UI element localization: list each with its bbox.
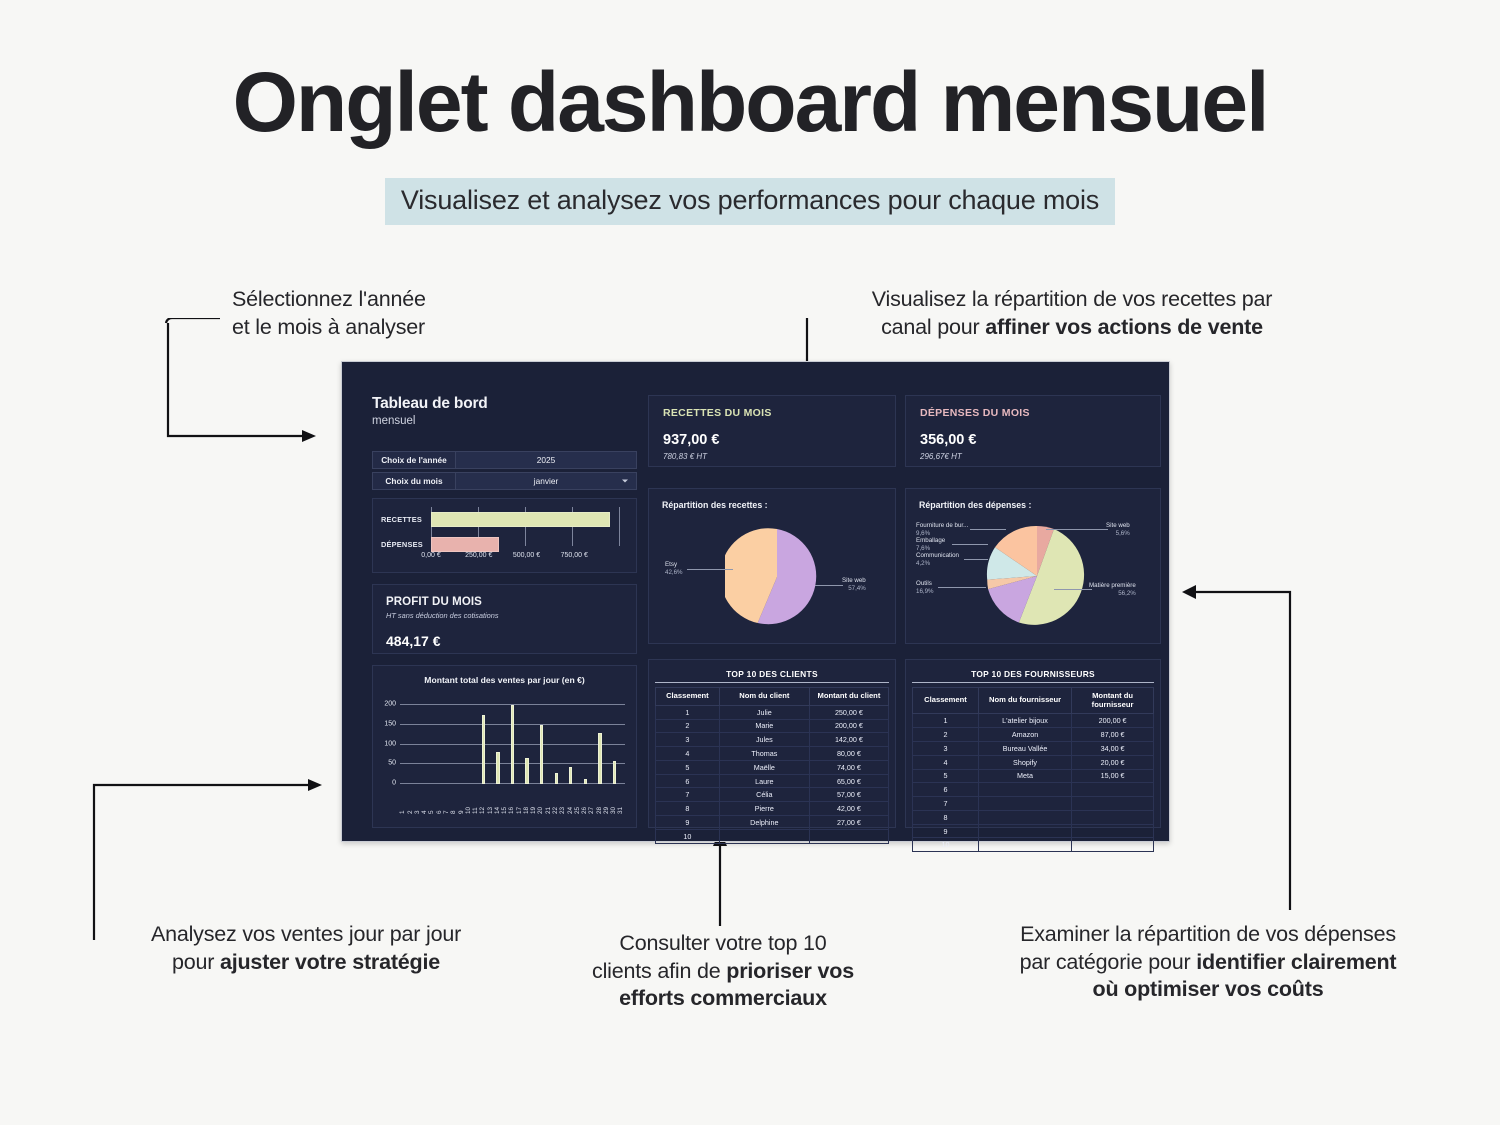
cell-amount: 65,00 € — [809, 774, 888, 788]
bar-slot — [618, 699, 625, 784]
revenue-pie-title: Répartition des recettes : — [662, 500, 768, 510]
annotation-line: Analysez vos ventes jour par jour — [118, 921, 494, 949]
cell-rank: 9 — [913, 824, 979, 838]
profit-note: HT sans déduction des cotisations — [386, 611, 623, 620]
annotation-text: clients afin de — [592, 959, 726, 983]
pie-label-emballage: Emballage 7,6% — [916, 537, 945, 553]
x-tick: 14 — [495, 788, 501, 814]
annotation-text: pour — [172, 950, 220, 974]
table-row: 2Marie200,00 € — [656, 719, 889, 733]
pie-label-text: Site web — [842, 577, 866, 585]
y-tick: 100 — [384, 740, 396, 747]
revenue-pie-chart — [725, 525, 829, 629]
month-selector-row[interactable]: Choix du mois janvier — [372, 472, 637, 490]
x-tick: 24 — [568, 788, 574, 814]
pie-label-value: 16,9% — [916, 588, 934, 596]
bar-slot — [415, 699, 422, 784]
column-header-rank: Classement — [656, 688, 720, 706]
pie-label-value: 56,2% — [1089, 590, 1136, 598]
cell-name: L'atelier bijoux — [978, 714, 1071, 728]
daily-sales-bar-chart: Montant total des ventes par jour (en €)… — [372, 665, 637, 828]
dashboard-title: Tableau de bord — [372, 395, 488, 413]
table-row: 5Meta15,00 € — [913, 769, 1154, 783]
cell-name: Meta — [978, 769, 1071, 783]
annotation-emphasis: ajuster votre stratégie — [220, 950, 440, 974]
leader-line-expense-split — [1178, 552, 1308, 922]
dashboard-brand: Tableau de bord mensuel — [372, 395, 488, 427]
x-tick: 0,00 € — [421, 552, 440, 559]
cell-name: Pierre — [719, 802, 809, 816]
annotation-line: efforts commerciaux — [566, 985, 880, 1013]
cell-amount: 57,00 € — [809, 788, 888, 802]
year-selector-row[interactable]: Choix de l'année 2025 — [372, 451, 637, 469]
bar-chart-plot: RECETTES DÉPENSES 0,00 € 250,00 € — [381, 507, 628, 564]
x-tick-slot: 1 — [400, 788, 407, 814]
top-suppliers-table-panel: TOP 10 DES FOURNISSEURS Classement Nom d… — [905, 659, 1161, 828]
pie-label-value: 57,4% — [842, 585, 866, 593]
annotation-revenue-split: Visualisez la répartition de vos recette… — [826, 286, 1318, 341]
bar-slot — [567, 699, 574, 784]
x-tick: 18 — [524, 788, 530, 814]
pie-label-value: 4,2% — [916, 560, 959, 568]
pie-label-siteweb-dep: Site web 5,6% — [1106, 522, 1130, 538]
pie-label-communication: Communication 4,2% — [916, 552, 959, 568]
cell-name: Maëlle — [719, 760, 809, 774]
cell-name — [978, 838, 1071, 852]
bar-slot — [560, 699, 567, 784]
cell-amount: 142,00 € — [809, 733, 888, 747]
bar — [555, 773, 558, 784]
cell-rank: 5 — [913, 769, 979, 783]
cell-name: Delphine — [719, 815, 809, 829]
top-clients-table-panel: TOP 10 DES CLIENTS Classement Nom du cli… — [648, 659, 896, 828]
y-tick: 200 — [384, 701, 396, 708]
bar-fill-recettes — [431, 512, 610, 527]
cell-amount: 80,00 € — [809, 747, 888, 761]
top-suppliers-table: Classement Nom du fournisseur Montant du… — [912, 687, 1154, 852]
x-tick-slot: 5 — [429, 788, 436, 814]
x-tick: 17 — [517, 788, 523, 814]
chevron-down-icon[interactable] — [622, 480, 628, 483]
bar-slot — [444, 699, 451, 784]
cell-rank: 2 — [656, 719, 720, 733]
table-row: 6 — [913, 783, 1154, 797]
column-header-rank: Classement — [913, 688, 979, 714]
annotation-line: pour ajuster votre stratégie — [118, 949, 494, 977]
table-row: 8 — [913, 810, 1154, 824]
x-tick: 29 — [604, 788, 610, 814]
pie-leader-line — [1054, 589, 1092, 590]
cell-amount: 74,00 € — [809, 760, 888, 774]
pie-leader-line — [964, 559, 988, 560]
y-tick: 150 — [384, 720, 396, 727]
cell-amount — [809, 829, 888, 843]
cell-amount: 200,00 € — [1072, 714, 1154, 728]
x-tick-slot: 20 — [538, 788, 545, 814]
daily-sales-bars — [400, 699, 625, 784]
page-subtitle-wrap: Visualisez et analysez vos performances … — [0, 178, 1500, 225]
table-row: 8Pierre42,00 € — [656, 802, 889, 816]
bar-slot — [538, 699, 545, 784]
bar-track — [431, 510, 622, 529]
year-selector-text: 2025 — [537, 455, 555, 465]
bar-fill-depenses — [431, 537, 499, 552]
table-row: 9 — [913, 824, 1154, 838]
expense-pie-panel: Répartition des dépenses : Fourniture de… — [905, 488, 1161, 644]
annotation-text: canal pour — [881, 315, 985, 339]
x-tick: 20 — [538, 788, 544, 814]
annotation-line: Visualisez la répartition de vos recette… — [826, 286, 1318, 314]
cell-name — [978, 824, 1071, 838]
cell-amount: 34,00 € — [1072, 742, 1154, 756]
bar-slot — [611, 699, 618, 784]
pie-leader-line — [815, 585, 843, 586]
table-row: 3Jules142,00 € — [656, 733, 889, 747]
pie-label-text: Fourniture de bur... — [916, 522, 968, 530]
x-tick: 16 — [509, 788, 515, 814]
top-clients-title: TOP 10 DES CLIENTS — [655, 665, 889, 683]
x-tick: 23 — [560, 788, 566, 814]
bar-slot — [582, 699, 589, 784]
x-tick: 500,00 € — [513, 552, 540, 559]
dashboard-subtitle: mensuel — [372, 415, 488, 427]
kpi-value-depenses: 356,00 € — [920, 432, 1146, 448]
x-tick-slot: 13 — [487, 788, 494, 814]
x-tick-slot: 9 — [458, 788, 465, 814]
cell-name — [719, 829, 809, 843]
cell-name: Julie — [719, 705, 809, 719]
bar-slot — [422, 699, 429, 784]
cell-rank: 5 — [656, 760, 720, 774]
bar — [540, 725, 543, 784]
x-tick-slot: 8 — [451, 788, 458, 814]
annotation-top-clients: Consulter votre top 10 clients afin de p… — [566, 930, 880, 1013]
cell-name: Bureau Vallée — [978, 742, 1071, 756]
pie-label-text: Site web — [1106, 522, 1130, 530]
kpi-sub-recettes: 780,83 € HT — [663, 452, 881, 461]
x-tick: 2 — [408, 788, 414, 814]
bar-slot — [596, 699, 603, 784]
cell-name — [978, 810, 1071, 824]
cell-rank: 10 — [913, 838, 979, 852]
bar-slot — [436, 699, 443, 784]
annotation-line: Sélectionnez l'année — [232, 286, 426, 314]
bar-slot — [516, 699, 523, 784]
bar-slot — [400, 699, 407, 784]
annotation-emphasis: efforts commerciaux — [619, 986, 827, 1010]
bar-chart-x-axis: 0,00 € 250,00 € 500,00 € 750,00 € — [431, 552, 622, 564]
cell-rank: 3 — [913, 742, 979, 756]
cell-name: Amazon — [978, 728, 1071, 742]
cell-amount: 87,00 € — [1072, 728, 1154, 742]
cell-amount — [1072, 797, 1154, 811]
bar-slot — [509, 699, 516, 784]
annotation-line: où optimiser vos coûts — [975, 976, 1441, 1004]
top-clients-table: Classement Nom du client Montant du clie… — [655, 687, 889, 844]
pie-leader-line — [938, 587, 986, 588]
table-row: 7 — [913, 797, 1154, 811]
bar — [482, 715, 485, 784]
cell-rank: 3 — [656, 733, 720, 747]
bar — [584, 779, 587, 784]
x-tick-slot: 12 — [480, 788, 487, 814]
pie-label-text: Outils — [916, 580, 934, 588]
top-clients-table-body: 1Julie250,00 €2Marie200,00 €3Jules142,00… — [656, 705, 889, 843]
bar — [496, 752, 499, 784]
pie-label-text: Communication — [916, 552, 959, 560]
expense-pie-title: Répartition des dépenses : — [919, 500, 1031, 510]
column-header-amount: Montant du fournisseur — [1072, 688, 1154, 714]
annotation-emphasis: identifier clairement — [1196, 950, 1396, 974]
profit-card: PROFIT DU MOIS HT sans déduction des cot… — [372, 584, 637, 654]
bar-label-recettes: RECETTES — [381, 510, 429, 529]
bar-slot — [502, 699, 509, 784]
cell-rank: 6 — [913, 783, 979, 797]
cell-amount: 200,00 € — [809, 719, 888, 733]
annotation-emphasis: prioriser vos — [726, 959, 854, 983]
x-tick: 31 — [618, 788, 624, 814]
column-header-amount: Montant du client — [809, 688, 888, 706]
cell-amount — [1072, 810, 1154, 824]
pie-label-matiere: Matière première 56,2% — [1089, 582, 1136, 598]
dashboard-canvas: Tableau de bord mensuel Choix de l'année… — [351, 371, 1160, 832]
x-tick-slot: 23 — [560, 788, 567, 814]
y-tick: 0 — [392, 780, 396, 787]
x-tick-slot: 28 — [596, 788, 603, 814]
cell-rank: 6 — [656, 774, 720, 788]
x-tick: 6 — [437, 788, 443, 814]
table-header-row: Classement Nom du fournisseur Montant du… — [913, 688, 1154, 714]
bar-row-recettes: RECETTES — [381, 510, 628, 529]
x-tick: 28 — [597, 788, 603, 814]
profit-title: PROFIT DU MOIS — [386, 596, 623, 608]
annotation-text: par catégorie pour — [1020, 950, 1197, 974]
kpi-card-recettes: RECETTES DU MOIS 937,00 € 780,83 € HT — [648, 395, 896, 467]
cell-name: Célia — [719, 788, 809, 802]
bar — [525, 758, 528, 784]
cell-rank: 4 — [656, 747, 720, 761]
table-row: 10 — [656, 829, 889, 843]
leader-line-daily-sales — [86, 765, 336, 945]
top-suppliers-title: TOP 10 DES FOURNISSEURS — [912, 665, 1154, 683]
cell-rank: 9 — [656, 815, 720, 829]
annotation-emphasis: où optimiser vos coûts — [1093, 977, 1324, 1001]
cell-amount: 42,00 € — [809, 802, 888, 816]
cell-rank: 2 — [913, 728, 979, 742]
table-row: 4Shopify20,00 € — [913, 755, 1154, 769]
cell-name: Laure — [719, 774, 809, 788]
annotation-line: Examiner la répartition de vos dépenses — [975, 921, 1441, 949]
table-header-row: Classement Nom du client Montant du clie… — [656, 688, 889, 706]
page-title: Onglet dashboard mensuel — [0, 60, 1500, 144]
cell-name: Marie — [719, 719, 809, 733]
bar — [569, 767, 572, 784]
annotation-line: par catégorie pour identifier clairement — [975, 949, 1441, 977]
bar-slot — [603, 699, 610, 784]
cell-rank: 1 — [656, 705, 720, 719]
cell-amount: 20,00 € — [1072, 755, 1154, 769]
cell-rank: 7 — [656, 788, 720, 802]
bar-slot — [494, 699, 501, 784]
pie-label-text: Etsy — [665, 561, 683, 569]
x-tick: 10 — [466, 788, 472, 814]
bar-slot — [545, 699, 552, 784]
page-subtitle: Visualisez et analysez vos performances … — [385, 178, 1115, 225]
pie-leader-line — [687, 569, 733, 570]
bar-slot — [487, 699, 494, 784]
kpi-card-depenses: DÉPENSES DU MOIS 356,00 € 296,67€ HT — [905, 395, 1161, 467]
cell-amount: 27,00 € — [809, 815, 888, 829]
cell-name: Jules — [719, 733, 809, 747]
annotation-expense-split: Examiner la répartition de vos dépenses … — [975, 921, 1441, 1004]
x-tick: 21 — [546, 788, 552, 814]
x-tick: 25 — [575, 788, 581, 814]
x-tick: 9 — [459, 788, 465, 814]
cell-amount: 250,00 € — [809, 705, 888, 719]
year-selector-value[interactable]: 2025 — [456, 451, 637, 469]
table-row: 1Julie250,00 € — [656, 705, 889, 719]
month-selector-text: janvier — [534, 476, 558, 486]
filter-selectors: Choix de l'année 2025 Choix du mois janv… — [372, 451, 637, 493]
annotation-line: Consulter votre top 10 — [566, 930, 880, 958]
cell-name: Thomas — [719, 747, 809, 761]
table-row: 4Thomas80,00 € — [656, 747, 889, 761]
pie-label-value: 5,6% — [1106, 530, 1130, 538]
cell-amount — [1072, 783, 1154, 797]
table-row: 1L'atelier bijoux200,00 € — [913, 714, 1154, 728]
table-row: 7Célia57,00 € — [656, 788, 889, 802]
cell-rank: 7 — [913, 797, 979, 811]
x-tick: 3 — [415, 788, 421, 814]
bar — [511, 705, 514, 784]
bar-slot — [465, 699, 472, 784]
cell-rank: 4 — [913, 755, 979, 769]
pie-leader-line — [1046, 529, 1108, 530]
x-tick-slot: 31 — [618, 788, 625, 814]
month-selector-label: Choix du mois — [372, 472, 456, 490]
pie-leader-line — [970, 529, 1006, 530]
bar-slot — [473, 699, 480, 784]
pie-label-fourniture: Fourniture de bur... 9,6% — [916, 522, 968, 538]
bar-slot — [451, 699, 458, 784]
annotation-line: clients afin de prioriser vos — [566, 958, 880, 986]
dashboard-screenshot: Tableau de bord mensuel Choix de l'année… — [341, 361, 1170, 842]
bar-slot — [589, 699, 596, 784]
cell-rank: 1 — [913, 714, 979, 728]
bar-slot — [524, 699, 531, 784]
revenue-pie-panel: Répartition des recettes : Etsy 42,6% Si… — [648, 488, 896, 644]
bar-slot — [458, 699, 465, 784]
cell-rank: 8 — [656, 802, 720, 816]
bar-slot — [429, 699, 436, 784]
y-tick: 50 — [388, 760, 396, 767]
daily-sales-plot: 0 50 100 150 200 — [400, 699, 625, 784]
table-row: 2Amazon87,00 € — [913, 728, 1154, 742]
x-tick: 1 — [400, 788, 406, 814]
infographic-page: Onglet dashboard mensuel Visualisez et a… — [0, 0, 1500, 1125]
revenue-expense-bar-chart: RECETTES DÉPENSES 0,00 € 250,00 € — [372, 498, 637, 573]
bar-slot — [480, 699, 487, 784]
annotation-line: canal pour affiner vos actions de vente — [826, 314, 1318, 342]
pie-label-etsy: Etsy 42,6% — [665, 561, 683, 577]
pie-label-value: 42,6% — [665, 569, 683, 577]
kpi-label-recettes: RECETTES DU MOIS — [663, 407, 881, 419]
table-row: 6Laure65,00 € — [656, 774, 889, 788]
table-row: 3Bureau Vallée34,00 € — [913, 742, 1154, 756]
kpi-value-recettes: 937,00 € — [663, 432, 881, 448]
x-tick: 5 — [429, 788, 435, 814]
kpi-label-depenses: DÉPENSES DU MOIS — [920, 407, 1146, 419]
pie-label-outils: Outils 16,9% — [916, 580, 934, 596]
cell-name: Shopify — [978, 755, 1071, 769]
pie-label-text: Matière première — [1089, 582, 1136, 590]
x-tick-slot: 24 — [567, 788, 574, 814]
cell-amount: 15,00 € — [1072, 769, 1154, 783]
pie-label-text: Emballage — [916, 537, 945, 545]
annotation-daily-sales: Analysez vos ventes jour par jour pour a… — [118, 921, 494, 976]
x-tick-slot: 16 — [509, 788, 516, 814]
x-tick: 8 — [451, 788, 457, 814]
daily-sales-x-axis: 1234567891011121314151617181920212223242… — [400, 788, 625, 814]
bar — [598, 733, 601, 784]
kpi-sub-depenses: 296,67€ HT — [920, 452, 1146, 461]
table-row: 5Maëlle74,00 € — [656, 760, 889, 774]
annotation-line: et le mois à analyser — [232, 314, 426, 342]
month-selector-value[interactable]: janvier — [456, 472, 637, 490]
cell-rank: 10 — [656, 829, 720, 843]
x-tick: 250,00 € — [465, 552, 492, 559]
pie-leader-line — [952, 544, 988, 545]
top-suppliers-table-body: 1L'atelier bijoux200,00 €2Amazon87,00 €3… — [913, 714, 1154, 852]
cell-amount — [1072, 838, 1154, 852]
daily-sales-chart-title: Montant total des ventes par jour (en €) — [373, 675, 636, 685]
table-row: 9Delphine27,00 € — [656, 815, 889, 829]
bar — [613, 761, 616, 784]
x-tick: 750,00 € — [561, 552, 588, 559]
bar-slot — [531, 699, 538, 784]
annotation-emphasis: affiner vos actions de vente — [985, 315, 1263, 339]
cell-name — [978, 797, 1071, 811]
x-tick: 12 — [480, 788, 486, 814]
cell-amount — [1072, 824, 1154, 838]
cell-name — [978, 783, 1071, 797]
x-tick: 27 — [589, 788, 595, 814]
year-selector-label: Choix de l'année — [372, 451, 456, 469]
cell-rank: 8 — [913, 810, 979, 824]
bar-slot — [574, 699, 581, 784]
bar-slot — [407, 699, 414, 784]
x-tick-slot: 27 — [589, 788, 596, 814]
annotation-select-year-month: Sélectionnez l'année et le mois à analys… — [232, 286, 426, 341]
bar-slot — [553, 699, 560, 784]
column-header-name: Nom du fournisseur — [978, 688, 1071, 714]
expense-pie-chart — [982, 521, 1092, 631]
table-row: 10 — [913, 838, 1154, 852]
x-tick: 13 — [488, 788, 494, 814]
column-header-name: Nom du client — [719, 688, 809, 706]
pie-label-siteweb: Site web 57,4% — [842, 577, 866, 593]
profit-value: 484,17 € — [386, 633, 623, 649]
